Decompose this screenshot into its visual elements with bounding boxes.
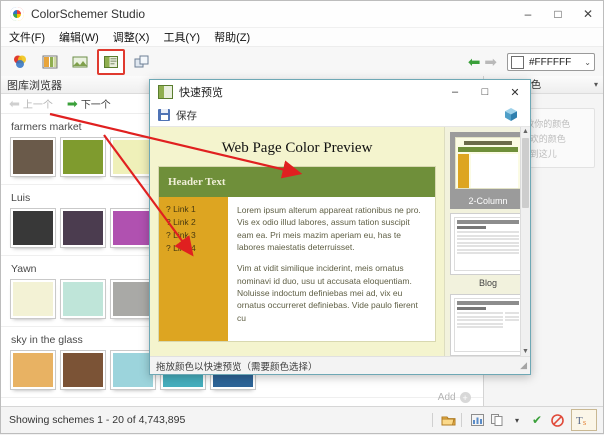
mini-text-line xyxy=(457,319,503,321)
web-preview-pane: Web Page Color Preview Header Text ? Lin… xyxy=(150,127,444,356)
layout-thumbnail-list[interactable]: 2-Column xyxy=(444,127,530,356)
dropdown-caret-icon[interactable]: ▾ xyxy=(508,412,526,429)
mini-text-line xyxy=(505,316,519,318)
mini-text-line xyxy=(457,252,519,254)
divider xyxy=(432,413,433,427)
color-swatch[interactable] xyxy=(61,209,105,247)
thumbnail-scrollbar[interactable]: ▲ ▼ xyxy=(520,127,530,356)
mini-blog-preview xyxy=(454,217,522,271)
mini-text-line xyxy=(457,238,519,240)
quick-preview-dialog: 快速预览 – □ ✕ 保存 Web Page Color Preview Hea… xyxy=(149,79,531,375)
dialog-title-bar: 快速预览 – □ ✕ xyxy=(150,80,530,104)
hex-value-label: #FFFFFF xyxy=(529,57,584,68)
mini-text-line xyxy=(457,316,503,318)
dialog-toolbar: 保存 xyxy=(150,104,530,127)
layout-thumbnail-blog-sidebar[interactable]: Blog/Sidebar xyxy=(450,294,526,356)
dialog-close-button[interactable]: ✕ xyxy=(500,80,530,104)
color-swatch[interactable] xyxy=(61,280,105,318)
3d-cube-icon[interactable] xyxy=(502,106,520,123)
preview-link[interactable]: ? Link 3 xyxy=(166,230,228,240)
menu-item-file[interactable]: 文件(F) xyxy=(9,29,45,45)
dialog-maximize-button[interactable]: □ xyxy=(470,80,500,104)
hex-color-input[interactable]: #FFFFFF ⌄ xyxy=(507,53,595,71)
mini-text-line xyxy=(457,326,503,328)
quick-preview-icon xyxy=(158,85,173,99)
color-swatch[interactable] xyxy=(11,351,55,389)
app-window: ColorSchemer Studio – □ ✕ 文件(F) 编辑(W) 调整… xyxy=(0,0,604,434)
export-chart-icon[interactable] xyxy=(468,412,486,429)
mini-body xyxy=(471,154,518,188)
preview-header-bar: Header Text xyxy=(159,167,435,197)
mini-2-column-preview xyxy=(455,137,521,189)
mini-text-line xyxy=(457,242,519,244)
dialog-minimize-button[interactable]: – xyxy=(440,80,470,104)
mini-side-column xyxy=(505,312,519,330)
window-controls: – □ ✕ xyxy=(513,1,603,27)
dialog-status-bar: 拖放颜色以快速预览（需要颜色选择） ◢ xyxy=(150,356,530,374)
menu-item-help[interactable]: 帮助(Z) xyxy=(214,29,250,45)
mini-text-line xyxy=(457,245,519,247)
mini-blog-sidebar-preview xyxy=(454,298,522,352)
thumbnail-image xyxy=(450,294,526,356)
mini-text-line xyxy=(505,312,519,314)
maximize-button[interactable]: □ xyxy=(543,1,573,27)
preview-header-text: Header Text xyxy=(168,176,226,188)
preview-sidebar: ? Link 1 ? Link 2 ? Link 3 ? Link 4 xyxy=(159,197,228,341)
gallery-panel-title: 图库浏览器 xyxy=(7,77,62,93)
color-blender-button[interactable] xyxy=(37,50,63,74)
app-title: ColorSchemer Studio xyxy=(31,7,145,21)
status-bar: Showing schemes 1 - 20 of 4,743,895 ▾ ✔ … xyxy=(1,406,603,433)
mini-text-line xyxy=(505,319,519,321)
add-scheme-button[interactable]: Add + xyxy=(438,392,471,403)
copy-icon[interactable] xyxy=(488,412,506,429)
status-text: Showing schemes 1 - 20 of 4,743,895 xyxy=(1,414,185,426)
preview-link[interactable]: ? Link 2 xyxy=(166,217,228,227)
scrollbar-thumb[interactable] xyxy=(522,138,529,208)
scheme-row[interactable]: Open Doorway xyxy=(1,398,483,406)
open-folder-icon[interactable] xyxy=(439,412,457,429)
main-toolbar: ⬅ ➡ #FFFFFF ⌄ xyxy=(1,47,603,78)
save-icon xyxy=(158,109,170,121)
layout-thumbnail-blog[interactable]: Blog xyxy=(450,213,526,290)
app-logo-icon xyxy=(10,7,24,21)
dialog-title: 快速预览 xyxy=(179,84,223,100)
mini-text-line xyxy=(457,231,519,233)
dialog-window-controls: – □ ✕ xyxy=(440,80,530,104)
plus-icon: + xyxy=(460,392,471,403)
preview-page: Header Text ? Link 1 ? Link 2 ? Link 3 ?… xyxy=(158,166,436,342)
mini-nav xyxy=(457,220,519,224)
svg-text:s: s xyxy=(583,418,586,427)
dialog-body: Web Page Color Preview Header Text ? Lin… xyxy=(150,127,530,356)
mini-header-bar xyxy=(458,147,518,152)
mini-main-column xyxy=(457,312,503,330)
title-bar: ColorSchemer Studio – □ ✕ xyxy=(1,1,603,28)
color-swatch[interactable] xyxy=(11,280,55,318)
duplicate-button[interactable] xyxy=(129,50,155,74)
scroll-up-icon[interactable]: ▲ xyxy=(521,127,530,136)
menu-item-edit[interactable]: 编辑(W) xyxy=(59,29,99,45)
thumbnail-label: 2-Column xyxy=(450,193,526,209)
dialog-status-text: 拖放颜色以快速预览（需要颜色选择） xyxy=(156,359,318,373)
history-back-icon[interactable]: ⬅ xyxy=(468,55,481,70)
forbidden-icon[interactable] xyxy=(548,412,566,429)
next-arrow-icon[interactable]: ➡ xyxy=(67,96,78,112)
status-bar-tools: ▾ ✔ Ts xyxy=(428,409,603,431)
dropzone-line-3: 到这儿 xyxy=(530,147,557,160)
mini-split xyxy=(457,312,519,330)
preview-columns: ? Link 1 ? Link 2 ? Link 3 ? Link 4 Lore… xyxy=(159,197,435,341)
preview-paragraph: Vim at vidit similique inciderint, meis … xyxy=(237,262,426,324)
quick-preview-button[interactable] xyxy=(97,49,125,75)
svg-text:T: T xyxy=(576,415,583,427)
mini-heading xyxy=(457,226,486,229)
chevron-down-icon[interactable]: ⌄ xyxy=(584,58,591,67)
mini-heading xyxy=(457,307,486,310)
preview-content: Lorem ipsum alterum appareat rationibus … xyxy=(228,197,435,341)
close-button[interactable]: ✕ xyxy=(573,1,603,27)
mini-text-line xyxy=(457,312,503,314)
minimize-button[interactable]: – xyxy=(513,1,543,27)
prev-label[interactable]: 上一个 xyxy=(23,96,53,111)
resize-grip-icon[interactable]: ◢ xyxy=(520,360,527,371)
menu-item-adjust[interactable]: 调整(X) xyxy=(113,29,150,45)
color-swatch[interactable] xyxy=(11,209,55,247)
layout-thumbnail-2-column[interactable]: 2-Column xyxy=(450,132,526,209)
photo-scheme-button[interactable] xyxy=(67,50,93,74)
mini-sidebar xyxy=(458,154,469,188)
chevron-down-icon[interactable]: ▾ xyxy=(594,80,598,89)
mini-text-line xyxy=(457,249,519,251)
scroll-down-icon[interactable]: ▼ xyxy=(521,347,530,356)
mini-title-bar xyxy=(464,141,512,145)
current-color-swatch xyxy=(511,56,524,69)
thumbnail-image xyxy=(450,213,526,275)
thumbnail-image xyxy=(450,132,526,194)
prev-arrow-icon[interactable]: ⬅ xyxy=(9,96,20,112)
color-swatch[interactable] xyxy=(61,138,105,176)
add-label: Add xyxy=(438,392,456,403)
save-button[interactable]: 保存 xyxy=(176,108,197,123)
preview-link[interactable]: ? Link 1 xyxy=(166,204,228,214)
preview-title: Web Page Color Preview xyxy=(158,140,436,157)
mini-nav xyxy=(457,301,519,305)
menu-bar: 文件(F) 编辑(W) 调整(X) 工具(Y) 帮助(Z) xyxy=(1,28,603,47)
menu-item-tools[interactable]: 工具(Y) xyxy=(163,29,200,45)
color-swatch[interactable] xyxy=(11,138,55,176)
thumbnail-label: Blog xyxy=(450,275,526,290)
history-forward-icon[interactable]: ➡ xyxy=(484,55,497,70)
divider xyxy=(461,413,462,427)
color-wheel-button[interactable] xyxy=(7,50,33,74)
mini-text-line xyxy=(457,235,519,237)
text-tool-icon[interactable]: Ts xyxy=(571,409,597,431)
check-icon[interactable]: ✔ xyxy=(528,412,546,429)
mini-columns xyxy=(458,154,518,188)
color-swatch[interactable] xyxy=(61,351,105,389)
toolbar-right-group: ⬅ ➡ #FFFFFF ⌄ xyxy=(468,53,603,71)
preview-link[interactable]: ? Link 4 xyxy=(166,243,228,253)
mini-text-line xyxy=(457,323,503,325)
preview-paragraph: Lorem ipsum alterum appareat rationibus … xyxy=(237,204,426,253)
next-label[interactable]: 下一个 xyxy=(81,96,111,111)
